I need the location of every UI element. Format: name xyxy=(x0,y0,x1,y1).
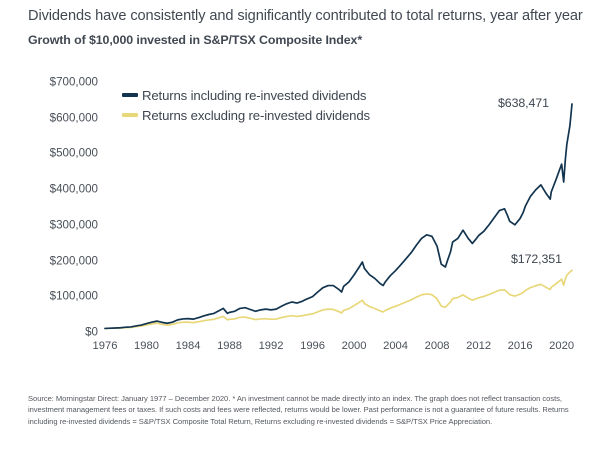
chart-container: $700,000$600,000$500,000$400,000$300,000… xyxy=(0,74,600,369)
chart-header: Dividends have consistently and signific… xyxy=(28,6,584,49)
annotation-excluding-end-value: $172,351 xyxy=(511,252,562,266)
chart-legend: Returns including re-invested dividends … xyxy=(122,85,370,125)
series-line-including xyxy=(105,104,572,328)
chart-subtitle: Growth of $10,000 invested in S&P/TSX Co… xyxy=(28,31,584,49)
legend-item-excluding: Returns excluding re-invested dividends xyxy=(122,105,370,125)
legend-swatch-excluding xyxy=(122,113,138,117)
legend-item-including: Returns including re-invested dividends xyxy=(122,85,370,105)
legend-swatch-including xyxy=(122,93,138,97)
page-title: Dividends have consistently and signific… xyxy=(28,6,584,26)
chart-page: Dividends have consistently and signific… xyxy=(0,0,600,452)
legend-label-including: Returns including re-invested dividends xyxy=(142,88,366,103)
series-line-excluding xyxy=(105,270,572,328)
footnote: Source: Morningstar Direct: January 1977… xyxy=(28,393,576,427)
legend-label-excluding: Returns excluding re-invested dividends xyxy=(142,108,370,123)
annotation-including-end-value: $638,471 xyxy=(498,96,549,110)
